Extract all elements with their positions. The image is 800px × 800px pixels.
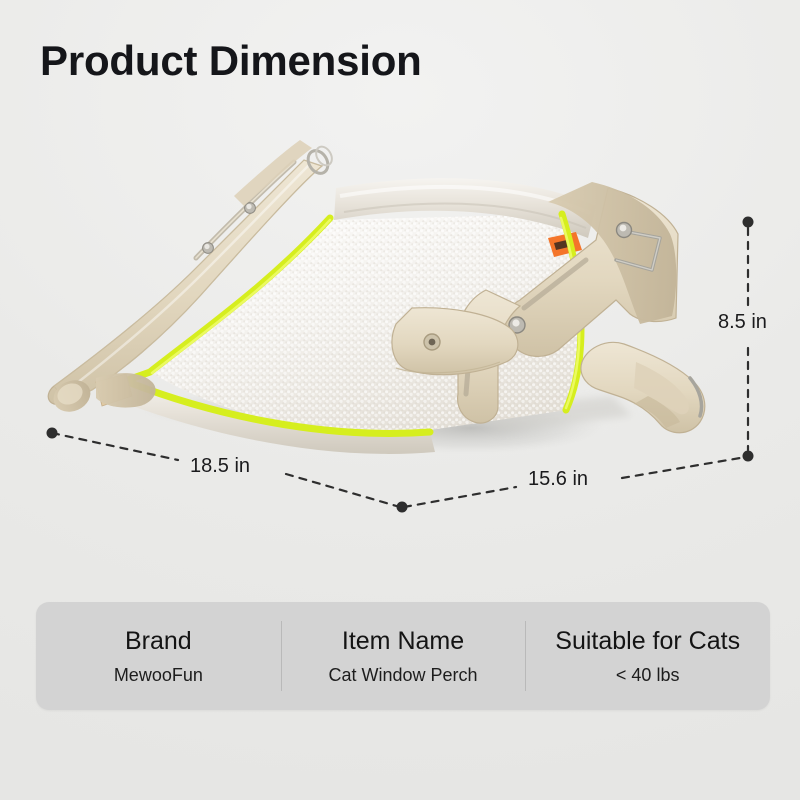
info-value-suitable-for-cats: < 40 lbs	[616, 665, 680, 686]
info-column-item-name: Item Name Cat Window Perch	[281, 602, 526, 710]
front-left-endcap	[96, 373, 156, 408]
info-heading-brand: Brand	[125, 627, 192, 656]
info-value-item-name: Cat Window Perch	[328, 665, 477, 686]
product-dimension-infographic: Product Dimension	[0, 0, 800, 800]
product-info-bar: Brand MewooFun Item Name Cat Window Perc…	[36, 602, 770, 710]
product-illustration	[0, 110, 800, 550]
dimension-height-label: 8.5 in	[718, 311, 767, 334]
dimension-depth-label: 15.6 in	[528, 468, 588, 491]
info-heading-item-name: Item Name	[342, 627, 464, 656]
info-value-brand: MewooFun	[114, 665, 203, 686]
dimension-width-label: 18.5 in	[190, 455, 250, 478]
page-title: Product Dimension	[40, 40, 422, 82]
info-column-suitable-for-cats: Suitable for Cats < 40 lbs	[525, 602, 770, 710]
info-heading-suitable-for-cats: Suitable for Cats	[555, 627, 740, 656]
product-image	[0, 110, 800, 550]
info-column-brand: Brand MewooFun	[36, 602, 281, 710]
